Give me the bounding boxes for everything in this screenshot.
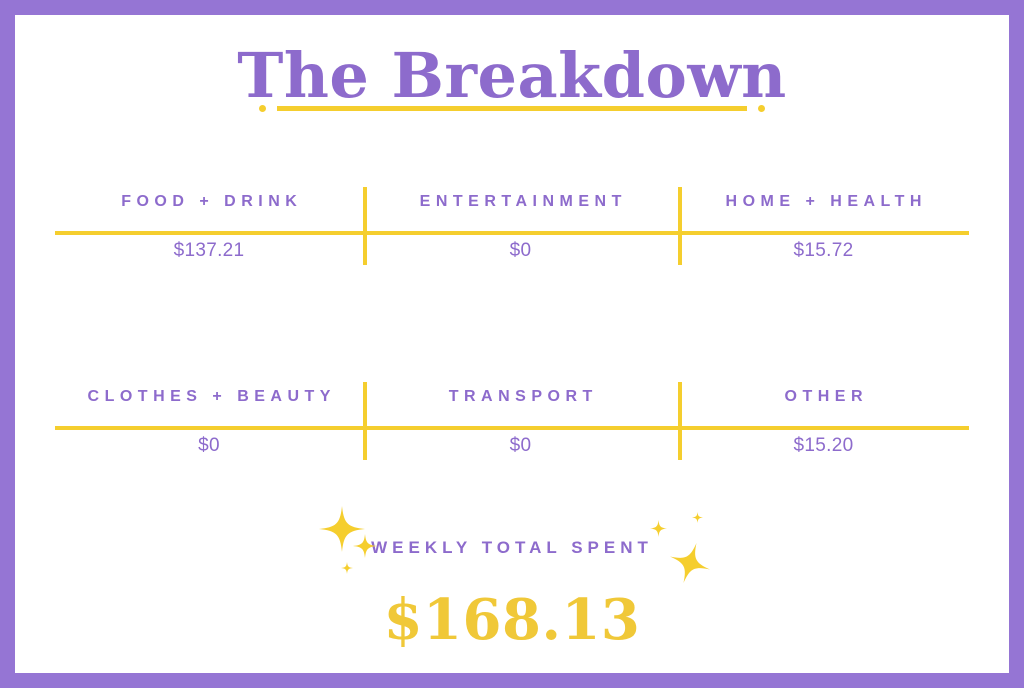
weekly-total-label: WEEKLY TOTAL SPENT [371,538,653,557]
category-label: TRANSPORT [363,388,678,406]
page-title: The Breakdown [15,45,1009,107]
rule-dot-right [758,105,765,112]
category-label: FOOD + DRINK [55,193,363,211]
rule-bar [277,106,747,111]
weekly-total-block: WEEKLY TOTAL SPENT $168.13 [15,520,1009,648]
breakdown-cell: FOOD + DRINK $137.21 [55,187,363,265]
sparkle-icon [669,542,711,584]
sparkle-icon [692,512,703,523]
weekly-total-amount: $168.13 [15,592,1009,648]
breakdown-cell: HOME + HEALTH $15.72 [678,187,969,265]
breakdown-row: CLOTHES + BEAUTY $0 TRANSPORT $0 OTHER $… [55,382,969,460]
poster-canvas: The Breakdown FOOD + DRINK $137.21 ENTER… [15,15,1009,673]
category-label: HOME + HEALTH [678,193,969,211]
category-amount: $0 [363,240,678,262]
sparkle-icon [319,506,365,552]
breakdown-cell: OTHER $15.20 [678,382,969,460]
breakdown-cell: CLOTHES + BEAUTY $0 [55,382,363,460]
sparkle-icon [341,562,353,574]
breakdown-cell: TRANSPORT $0 [363,382,678,460]
weekly-total-label-wrap: WEEKLY TOTAL SPENT [311,520,713,576]
category-label: OTHER [678,388,969,406]
breakdown-cell: ENTERTAINMENT $0 [363,187,678,265]
category-amount: $0 [55,435,363,457]
sparkle-icon [650,520,667,537]
category-label: ENTERTAINMENT [363,193,678,211]
poster-frame: The Breakdown FOOD + DRINK $137.21 ENTER… [0,0,1024,688]
breakdown-row: FOOD + DRINK $137.21 ENTERTAINMENT $0 HO… [55,187,969,265]
rule-dot-left [259,105,266,112]
category-amount: $137.21 [55,240,363,262]
category-label: CLOTHES + BEAUTY [55,388,363,406]
category-amount: $0 [363,435,678,457]
category-amount: $15.72 [678,240,969,262]
category-amount: $15.20 [678,435,969,457]
title-underline-rule [15,101,1009,115]
title-block: The Breakdown [15,45,1009,107]
